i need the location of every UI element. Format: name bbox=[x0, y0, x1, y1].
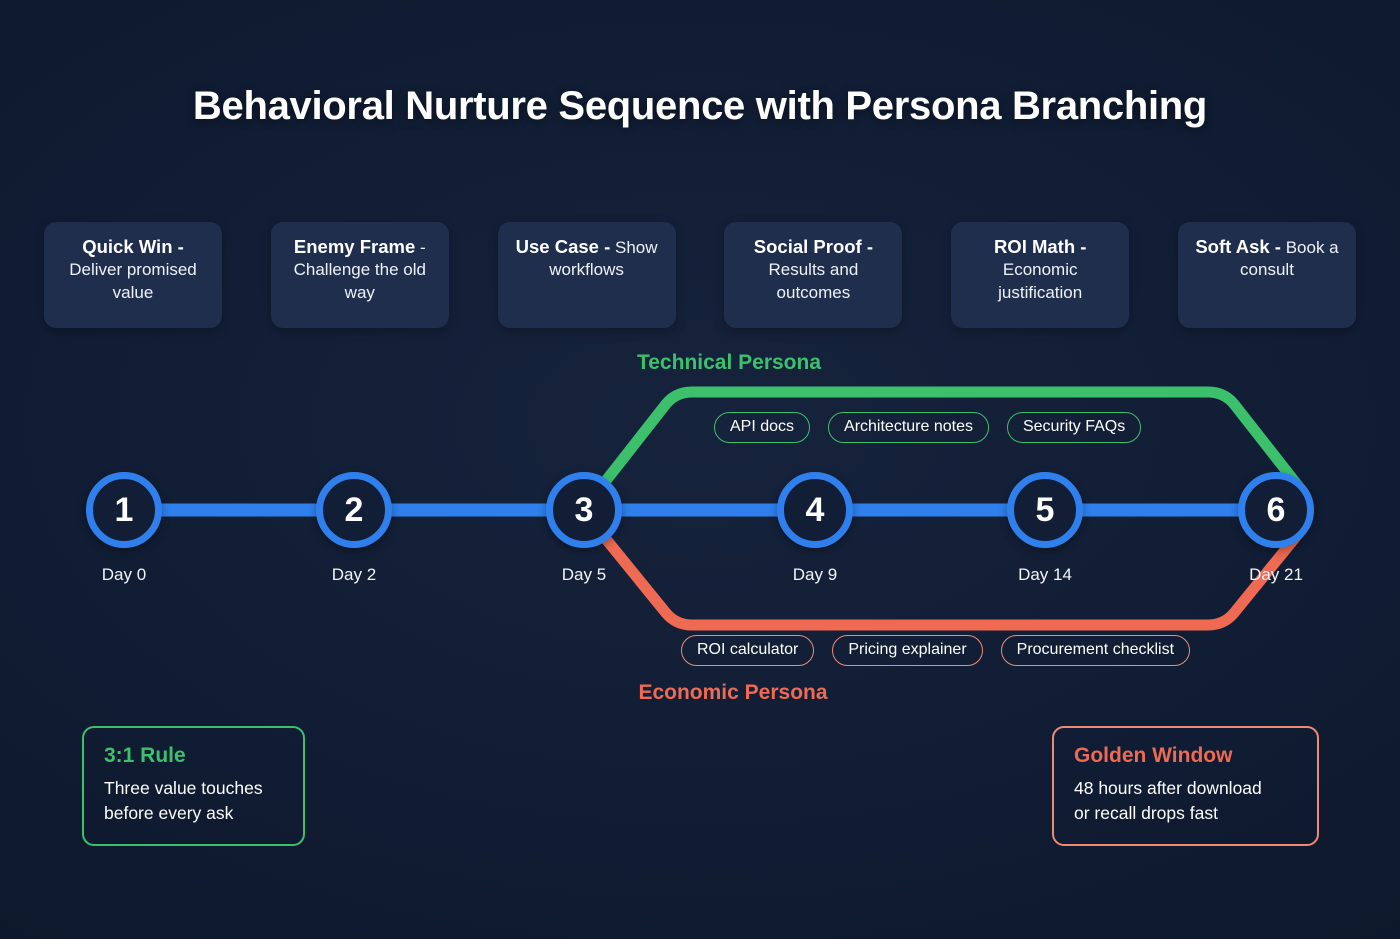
technical-pill-api-docs[interactable]: API docs bbox=[714, 412, 810, 443]
stage-card-title: Enemy Frame bbox=[294, 236, 415, 257]
page-title: Behavioral Nurture Sequence with Persona… bbox=[0, 84, 1400, 129]
day-label-6: Day 21 bbox=[1216, 565, 1336, 585]
stage-card-title: Quick Win - bbox=[82, 236, 184, 257]
stage-card-desc: Results and outcomes bbox=[769, 260, 859, 301]
callout-body: 48 hours after download or recall drops … bbox=[1074, 776, 1297, 826]
stage-card-soft-ask[interactable]: Soft Ask - Book a consult bbox=[1178, 222, 1356, 328]
technical-pill-row: API docs Architecture notes Security FAQ… bbox=[714, 412, 1141, 443]
timeline-node-3[interactable]: 3 bbox=[546, 472, 622, 548]
timeline-node-4[interactable]: 4 bbox=[777, 472, 853, 548]
callout-title: 3:1 Rule bbox=[104, 744, 283, 768]
timeline-node-5[interactable]: 5 bbox=[1007, 472, 1083, 548]
economic-pill-pricing-explainer[interactable]: Pricing explainer bbox=[832, 635, 982, 666]
economic-branch-path bbox=[601, 533, 1299, 625]
economic-pill-roi-calculator[interactable]: ROI calculator bbox=[681, 635, 814, 666]
callout-body: Three value touches before every ask bbox=[104, 776, 283, 826]
stage-card-social-proof[interactable]: Social Proof - Results and outcomes bbox=[724, 222, 902, 328]
callout-three-to-one-rule: 3:1 Rule Three value touches before ever… bbox=[82, 726, 305, 846]
technical-pill-security-faqs[interactable]: Security FAQs bbox=[1007, 412, 1141, 443]
stage-card-use-case[interactable]: Use Case - Show workflows bbox=[498, 222, 676, 328]
stage-card-quick-win[interactable]: Quick Win - Deliver promised value bbox=[44, 222, 222, 328]
timeline-node-2[interactable]: 2 bbox=[316, 472, 392, 548]
day-label-1: Day 0 bbox=[64, 565, 184, 585]
stage-card-enemy-frame[interactable]: Enemy Frame - Challenge the old way bbox=[271, 222, 449, 328]
technical-pill-architecture-notes[interactable]: Architecture notes bbox=[828, 412, 989, 443]
stage-card-roi-math[interactable]: ROI Math - Economic justification bbox=[951, 222, 1129, 328]
infographic-stage: Behavioral Nurture Sequence with Persona… bbox=[0, 0, 1400, 939]
stage-card-desc: Deliver promised value bbox=[69, 260, 197, 301]
stage-card-title: Social Proof - bbox=[754, 236, 873, 257]
economic-pill-procurement-checklist[interactable]: Procurement checklist bbox=[1001, 635, 1190, 666]
stage-card-title: Soft Ask - bbox=[1195, 236, 1281, 257]
technical-persona-label: Technical Persona bbox=[29, 351, 1400, 375]
day-label-2: Day 2 bbox=[294, 565, 414, 585]
timeline-node-1[interactable]: 1 bbox=[86, 472, 162, 548]
callout-golden-window: Golden Window 48 hours after download or… bbox=[1052, 726, 1319, 846]
stage-card-title: ROI Math - bbox=[994, 236, 1087, 257]
day-label-4: Day 9 bbox=[755, 565, 875, 585]
day-label-5: Day 14 bbox=[985, 565, 1105, 585]
timeline-node-6[interactable]: 6 bbox=[1238, 472, 1314, 548]
economic-persona-label: Economic Persona bbox=[33, 681, 1400, 705]
stage-card-title: Use Case - bbox=[516, 236, 611, 257]
stage-card-desc: Economic justification bbox=[998, 260, 1082, 301]
economic-pill-row: ROI calculator Pricing explainer Procure… bbox=[681, 635, 1190, 666]
stage-cards-row: Quick Win - Deliver promised value Enemy… bbox=[44, 222, 1356, 328]
callout-title: Golden Window bbox=[1074, 744, 1297, 768]
day-label-3: Day 5 bbox=[524, 565, 644, 585]
